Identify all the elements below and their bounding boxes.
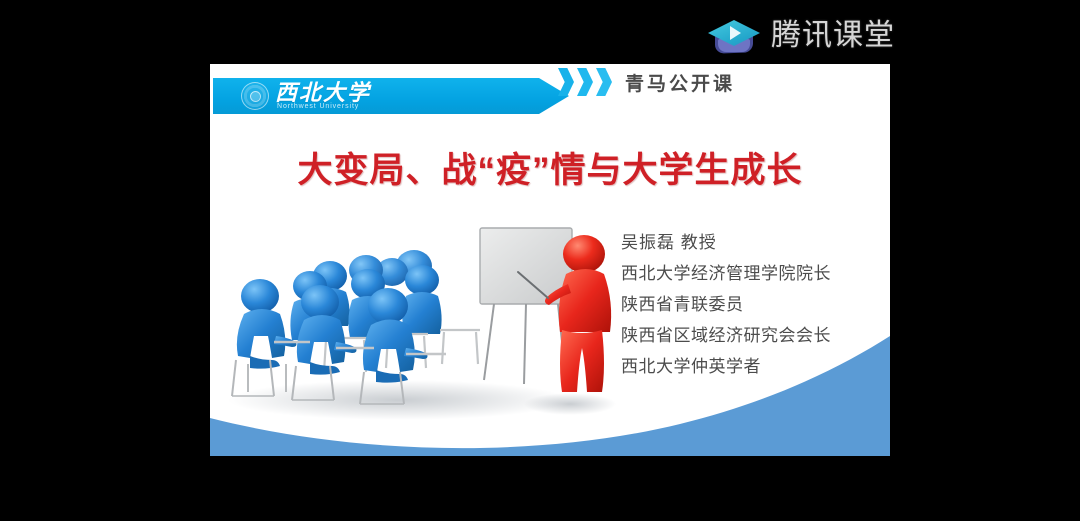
university-name-en-label: Northwest University <box>277 103 359 110</box>
chevron-right-icon <box>558 68 574 96</box>
slide-header-banner: 西北大学 Northwest University <box>213 78 569 114</box>
speaker-title-line-1: 西北大学经济管理学院院长 <box>621 258 871 289</box>
speaker-title-line-4: 西北大学仲英学者 <box>621 351 871 382</box>
speaker-credentials: 吴振磊 教授 西北大学经济管理学院院长 陕西省青联委员 陕西省区域经济研究会会长… <box>621 227 871 382</box>
tencent-classroom-logo-icon <box>706 14 762 58</box>
course-series-label: 青马公开课 <box>625 69 735 96</box>
brand-watermark: 腾讯课堂 <box>706 12 906 60</box>
slide-title: 大变局、战“疫”情与大学生成长 <box>210 142 890 193</box>
northwest-university-emblem-icon <box>241 82 269 110</box>
whiteboard <box>480 228 572 384</box>
play-triangle-icon <box>730 26 741 40</box>
presentation-slide: 西北大学 Northwest University 青马公开课 大变局、战“疫”… <box>210 64 890 456</box>
chevron-right-icon <box>596 68 612 96</box>
chevron-right-icon <box>577 68 593 96</box>
speaker-title-line-2: 陕西省青联委员 <box>621 289 871 320</box>
header-chevron-group <box>558 68 612 96</box>
speaker-title-line-3: 陕西省区域经济研究会会长 <box>621 320 871 351</box>
brand-name-label: 腾讯课堂 <box>771 21 895 51</box>
classroom-lecture-illustration <box>218 214 638 429</box>
speaker-name-line: 吴振磊 教授 <box>621 227 871 258</box>
video-player-stage[interactable]: 腾讯课堂 西北大学 Northwest University 青马公开课 大变局… <box>0 0 1080 521</box>
